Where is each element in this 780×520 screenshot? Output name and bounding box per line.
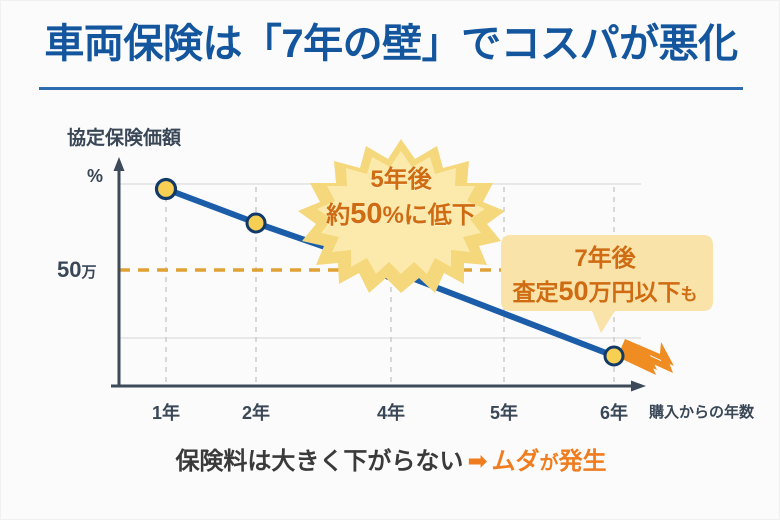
x-axis-tick-1: 1年 <box>152 399 180 425</box>
speech-bubble-line2: 査定50万円以下も <box>499 274 711 309</box>
starburst-line2: 約50%に低下 <box>303 196 499 233</box>
speech-bubble-line1: 7年後 <box>499 243 711 274</box>
infographic-page: 車両保険は「7年の壁」でコスパが悪化 <box>0 0 780 520</box>
starburst-line2-prefix: 約 <box>326 202 350 229</box>
starburst-line1: 5年後 <box>303 165 499 196</box>
y-axis-title: 協定保険価額 <box>67 123 181 150</box>
starburst-annotation: 5年後 約50%に低下 <box>303 141 499 259</box>
caption-lead: 保険料は大きく下がらない <box>175 448 463 475</box>
right-arrow-icon: ➡ <box>463 448 491 475</box>
x-axis-tick-5: 5年 <box>490 399 518 425</box>
starburst-text: 5年後 約50%に低下 <box>303 165 499 233</box>
x-axis-tick-2: 2年 <box>242 399 270 425</box>
y-axis-tick-50man: 50万 <box>57 257 97 283</box>
y-axis-tick-percent: % <box>87 166 103 187</box>
speech-bubble-line2-big: 50 <box>558 276 588 306</box>
x-axis-tick-6: 6年 <box>600 399 628 425</box>
caption-accent-big: ムダ <box>492 448 540 475</box>
x-axis-title: 購入からの年数 <box>649 401 754 422</box>
x-axis-tick-4: 4年 <box>377 399 405 425</box>
x-axis <box>111 381 646 392</box>
speech-bubble-annotation: 7年後 査定50万円以下も <box>499 233 715 325</box>
footer-caption: 保険料は大きく下がらない➡ムダが発生 <box>1 441 780 476</box>
caption-accent-tail: 発生 <box>559 448 607 475</box>
speech-bubble-text: 7年後 査定50万円以下も <box>499 243 711 309</box>
trend-arrow-icon <box>619 339 674 375</box>
y-tick-50man-value: 50 <box>57 257 81 282</box>
speech-bubble-line2-tail: も <box>681 285 698 304</box>
caption-accent-small: が <box>540 453 559 474</box>
speech-bubble-line2-prefix: 査定 <box>512 279 558 305</box>
speech-bubble-line2-suffix: 万円以下 <box>589 279 681 305</box>
starburst-line2-suffix: %に低下 <box>382 202 475 229</box>
y-tick-50man-unit: 万 <box>81 264 96 281</box>
starburst-line2-big: 50 <box>350 198 382 230</box>
